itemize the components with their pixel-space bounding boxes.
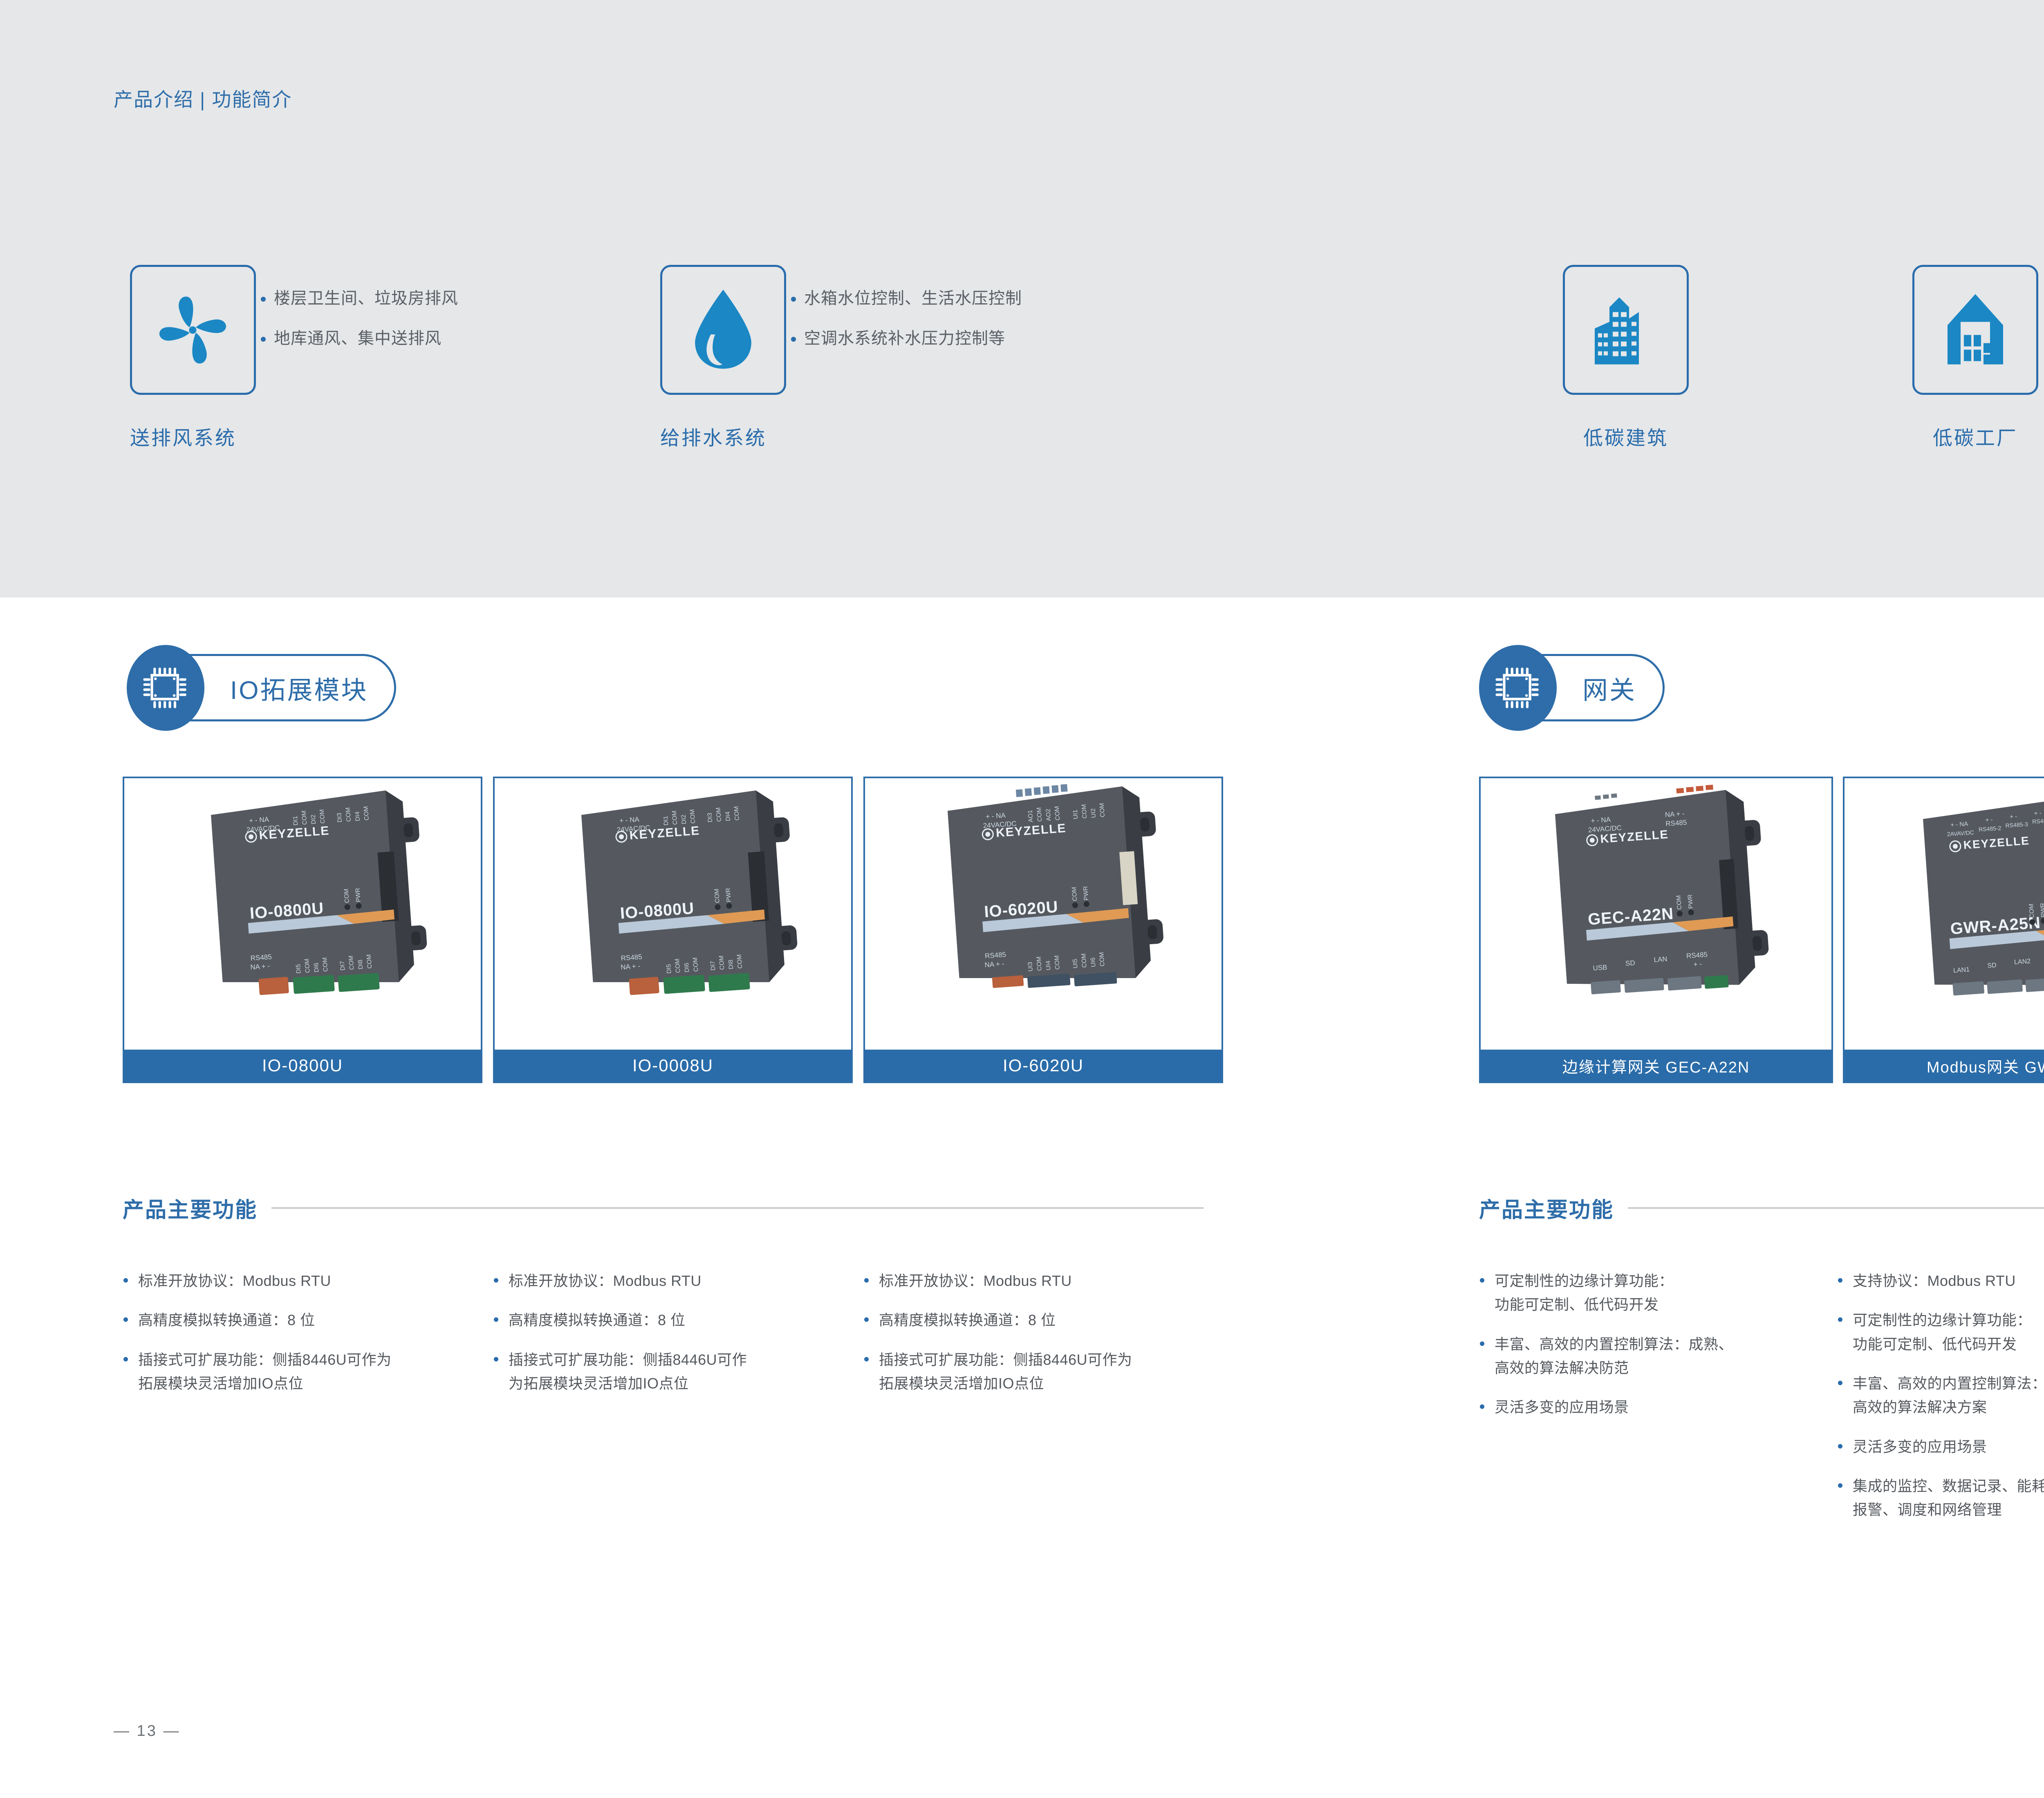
scenario-block-building: 低碳建筑 bbox=[1563, 265, 1689, 450]
svg-text:COM: COM bbox=[1071, 887, 1078, 901]
feature-text: 丰富、高效的内置控制算法：成熟、 高效的算法解决防范 bbox=[1492, 1332, 1827, 1380]
svg-text:COM: COM bbox=[321, 957, 329, 972]
svg-text:NA + -: NA + - bbox=[250, 962, 270, 971]
product-card[interactable]: + - NA 24VAC/DC DI1 COM DI2 COM DI3 COM … bbox=[493, 777, 853, 1083]
features-heading-right: 产品主要功能 bbox=[1479, 1193, 2044, 1223]
svg-text:COM: COM bbox=[303, 958, 311, 973]
section-header-io-modules: IO拓展模块 bbox=[127, 645, 437, 732]
feature-column: 支持协议：Modbus RTU 可定制性的边缘计算功能： 功能可定制、低代码开发… bbox=[1850, 1269, 2044, 1538]
svg-text:DI1: DI1 bbox=[292, 816, 300, 826]
running-head-left: 产品介绍 | 功能简介 bbox=[114, 84, 292, 112]
svg-text:LAN1: LAN1 bbox=[1953, 966, 1970, 974]
svg-text:DI2: DI2 bbox=[680, 815, 688, 824]
bullet-item: 楼层卫生间、垃圾房排风 bbox=[274, 290, 585, 307]
svg-text:COM: COM bbox=[1053, 806, 1061, 821]
feature-text: 高精度模拟转换通道：8 位 bbox=[876, 1308, 1221, 1332]
section-title-gateways: 网关 bbox=[1582, 669, 1636, 706]
feature-item: 可定制性的边缘计算功能： 功能可定制、低代码开发 bbox=[1492, 1269, 1827, 1317]
device-illustration-gwr-a25n: + - NA + - + - + - + - 2AVAV/DC RS485-2 … bbox=[1845, 778, 2044, 1032]
svg-text:LAN2: LAN2 bbox=[2014, 958, 2031, 966]
svg-text:AO1: AO1 bbox=[1026, 810, 1034, 822]
section-title-io-modules: IO拓展模块 bbox=[230, 669, 368, 706]
features-title: 产品主要功能 bbox=[123, 1193, 258, 1223]
feature-item: 插接式可扩展功能：侧插8446U可作为 拓展模块灵活增加IO点位 bbox=[136, 1348, 480, 1396]
feature-text: 插接式可扩展功能：侧插8446U可作 为拓展模块灵活增加IO点位 bbox=[506, 1348, 850, 1396]
svg-text:+ -: + - bbox=[2010, 813, 2017, 820]
svg-text:PWR: PWR bbox=[1082, 886, 1090, 900]
svg-text:DI7: DI7 bbox=[339, 961, 347, 970]
heading-rule bbox=[1628, 1207, 2044, 1209]
chip-icon-circle bbox=[1479, 645, 1557, 731]
device-illustration-gec-a22n: + - NA 24VAC/DC NA + - RS485 KEYZELLE GE… bbox=[1481, 778, 1831, 1032]
section-header-gateways: 网关 bbox=[1479, 645, 1732, 732]
svg-text:+ - NA: + - NA bbox=[1591, 815, 1611, 824]
svg-text:COM: COM bbox=[1035, 956, 1043, 971]
svg-text:UI2: UI2 bbox=[1090, 808, 1098, 818]
svg-text:RS485: RS485 bbox=[984, 951, 1006, 960]
product-label: Modbus网关 GWR-A25N bbox=[1845, 1050, 2044, 1081]
application-bullets-water: 水箱水位控制、生活水压控制 空调水系统补水压力控制等 bbox=[804, 290, 1115, 370]
application-caption-water: 给排水系统 bbox=[660, 422, 786, 450]
feature-item: 高精度模拟转换通道：8 位 bbox=[136, 1308, 480, 1332]
svg-text:DI7: DI7 bbox=[709, 961, 717, 970]
fan-icon bbox=[149, 286, 237, 374]
svg-text:+ -: + - bbox=[1693, 960, 1702, 968]
feature-item: 标准开放协议：Modbus RTU bbox=[876, 1269, 1221, 1293]
svg-text:COM: COM bbox=[692, 957, 699, 972]
bullet-item: 地库通风、集中送排风 bbox=[274, 330, 585, 347]
product-image: + - NA 24VAC/DC DI1 COM DI2 COM DI3 COM … bbox=[124, 778, 481, 1050]
application-block-ventilation: 送排风系统 楼层卫生间、垃圾房排风 地库通风、集中送排风 bbox=[130, 265, 256, 450]
product-label: IO-0008U bbox=[495, 1050, 851, 1081]
feature-text: 标准开放协议：Modbus RTU bbox=[136, 1269, 480, 1293]
application-block-water: 给排水系统 水箱水位控制、生活水压控制 空调水系统补水压力控制等 bbox=[660, 265, 786, 450]
feature-item: 集成的监控、数据记录、能耗计量、 报警、调度和网络管理 bbox=[1850, 1474, 2044, 1522]
svg-text:COM: COM bbox=[1098, 803, 1106, 817]
feature-columns-left: 标准开放协议：Modbus RTU 高精度模拟转换通道：8 位 插接式可扩展功能… bbox=[136, 1269, 1221, 1411]
product-image: + - NA 24VAC/DC DI1 COM DI2 COM DI3 COM … bbox=[495, 778, 851, 1050]
chip-icon-circle bbox=[127, 645, 204, 731]
feature-column: 标准开放协议：Modbus RTU 高精度模拟转换通道：8 位 插接式可扩展功能… bbox=[876, 1269, 1221, 1411]
svg-text:NA + -: NA + - bbox=[621, 962, 641, 971]
product-card-row-gateways: + - NA 24VAC/DC NA + - RS485 KEYZELLE GE… bbox=[1479, 777, 2044, 1083]
svg-text:+ - NA: + - NA bbox=[619, 815, 640, 824]
feature-text: 标准开放协议：Modbus RTU bbox=[506, 1269, 850, 1293]
bullet-item: 水箱水位控制、生活水压控制 bbox=[804, 290, 1115, 307]
svg-text:PWR: PWR bbox=[2039, 902, 2044, 917]
svg-text:+ - NA: + - NA bbox=[986, 811, 1006, 820]
svg-text:UI5: UI5 bbox=[1071, 958, 1079, 968]
scenario-caption-factory: 低碳工厂 bbox=[1912, 422, 2038, 450]
svg-text:SD: SD bbox=[1987, 962, 1997, 970]
feature-text: 灵活多变的应用场景 bbox=[1492, 1395, 1827, 1419]
factory-icon bbox=[1934, 288, 2016, 372]
svg-text:PWR: PWR bbox=[354, 888, 362, 902]
product-label: 边缘计算网关 GEC-A22N bbox=[1481, 1050, 1831, 1081]
feature-text: 集成的监控、数据记录、能耗计量、 报警、调度和网络管理 bbox=[1850, 1474, 2044, 1522]
product-card-row-io: + - NA 24VAC/DC DI1 COM DI2 COM DI3 COM … bbox=[123, 777, 1223, 1083]
device-illustration-io-0008u: + - NA 24VAC/DC DI1 COM DI2 COM DI3 COM … bbox=[495, 778, 851, 1032]
device-illustration-io-0800u: + - NA 24VAC/DC DI1 COM DI2 COM DI3 COM … bbox=[124, 778, 481, 1032]
svg-text:UI6: UI6 bbox=[1089, 957, 1097, 967]
svg-text:+ -: + - bbox=[2034, 810, 2042, 817]
svg-text:UI4: UI4 bbox=[1044, 961, 1052, 970]
svg-text:COM: COM bbox=[713, 889, 721, 903]
svg-text:+ -: + - bbox=[1985, 816, 1993, 824]
factory-icon-frame bbox=[1912, 265, 2038, 395]
svg-text:COM: COM bbox=[1035, 807, 1043, 822]
svg-text:COM: COM bbox=[345, 807, 352, 822]
feature-item: 标准开放协议：Modbus RTU bbox=[506, 1269, 850, 1293]
product-card[interactable]: + - NA 24VAC/DC AO1 COM AO2 COM UI1 COM … bbox=[863, 777, 1223, 1083]
svg-text:PWR: PWR bbox=[1687, 894, 1694, 909]
heading-rule bbox=[271, 1207, 1204, 1209]
svg-text:DI6: DI6 bbox=[313, 963, 320, 972]
svg-text:COM: COM bbox=[718, 955, 726, 970]
product-card[interactable]: + - NA + - + - + - + - 2AVAV/DC RS485-2 … bbox=[1843, 777, 2044, 1083]
svg-text:COM: COM bbox=[2028, 903, 2035, 918]
office-building-icon-frame bbox=[1563, 265, 1689, 395]
svg-text:AO2: AO2 bbox=[1044, 808, 1052, 821]
device-illustration-io-6020u: + - NA 24VAC/DC AO1 COM AO2 COM UI1 COM … bbox=[865, 778, 1221, 1032]
svg-text:DI8: DI8 bbox=[357, 959, 365, 969]
svg-text:COM: COM bbox=[1080, 953, 1088, 968]
feature-item: 支持协议：Modbus RTU bbox=[1850, 1269, 2044, 1293]
feature-item: 插接式可扩展功能：侧插8446U可作 为拓展模块灵活增加IO点位 bbox=[506, 1348, 850, 1396]
feature-column: 可定制性的边缘计算功能： 功能可定制、低代码开发 丰富、高效的内置控制算法：成熟… bbox=[1492, 1269, 1827, 1538]
svg-text:USB: USB bbox=[1593, 963, 1607, 972]
svg-text:RS485-4: RS485-4 bbox=[2032, 817, 2044, 825]
svg-text:COM: COM bbox=[671, 810, 679, 825]
svg-text:COM: COM bbox=[1675, 895, 1683, 910]
feature-item: 高精度模拟转换通道：8 位 bbox=[506, 1308, 850, 1332]
water-drop-icon bbox=[682, 286, 764, 374]
svg-text:COM: COM bbox=[736, 954, 744, 969]
features-title: 产品主要功能 bbox=[1479, 1193, 1614, 1223]
feature-column: 标准开放协议：Modbus RTU 高精度模拟转换通道：8 位 插接式可扩展功能… bbox=[506, 1269, 850, 1411]
feature-item: 高精度模拟转换通道：8 位 bbox=[876, 1308, 1221, 1332]
svg-text:COM: COM bbox=[343, 889, 351, 903]
svg-text:DI1: DI1 bbox=[662, 816, 670, 826]
feature-text: 丰富、高效的内置控制算法：成熟、 高效的算法解决方案 bbox=[1850, 1372, 2044, 1420]
feature-text: 灵活多变的应用场景 bbox=[1850, 1435, 2044, 1459]
feature-item: 丰富、高效的内置控制算法：成熟、 高效的算法解决方案 bbox=[1850, 1372, 2044, 1420]
svg-text:RS485: RS485 bbox=[1686, 951, 1708, 960]
feature-column: 标准开放协议：Modbus RTU 高精度模拟转换通道：8 位 插接式可扩展功能… bbox=[136, 1269, 480, 1411]
feature-text: 插接式可扩展功能：侧插8446U可作为 拓展模块灵活增加IO点位 bbox=[876, 1348, 1221, 1396]
feature-text: 可定制性的边缘计算功能： 功能可定制、低代码开发 bbox=[1850, 1308, 2044, 1356]
chip-icon bbox=[1493, 663, 1543, 713]
feature-item: 标准开放协议：Modbus RTU bbox=[136, 1269, 480, 1293]
brochure-spread: 产品介绍 | 功能简介 产品介绍 | 功能简介 送排风系统 楼层卫生间、垃圾房排… bbox=[0, 0, 2044, 1798]
svg-text:DI4: DI4 bbox=[354, 811, 361, 821]
features-heading-left: 产品主要功能 bbox=[123, 1193, 1218, 1223]
svg-text:LAN: LAN bbox=[1654, 955, 1667, 964]
svg-text:DI2: DI2 bbox=[310, 815, 318, 824]
svg-text:COM: COM bbox=[689, 809, 697, 824]
svg-text:RS485: RS485 bbox=[1665, 819, 1687, 828]
product-image: + - NA 24VAC/DC AO1 COM AO2 COM UI1 COM … bbox=[865, 778, 1221, 1050]
product-image: + - NA + - + - + - + - 2AVAV/DC RS485-2 … bbox=[1845, 778, 2044, 1050]
svg-text:UI1: UI1 bbox=[1072, 809, 1080, 819]
svg-text:NA + -: NA + - bbox=[1665, 810, 1685, 819]
svg-text:DI4: DI4 bbox=[724, 811, 732, 821]
feature-text: 支持协议：Modbus RTU bbox=[1850, 1269, 2044, 1293]
svg-text:DI6: DI6 bbox=[683, 963, 691, 972]
svg-text:COM: COM bbox=[318, 809, 326, 824]
office-building-icon bbox=[1585, 288, 1667, 372]
svg-text:COM: COM bbox=[300, 810, 308, 825]
svg-text:COM: COM bbox=[363, 806, 370, 821]
svg-text:COM: COM bbox=[674, 958, 681, 973]
feature-text: 高精度模拟转换通道：8 位 bbox=[506, 1308, 850, 1332]
application-caption-ventilation: 送排风系统 bbox=[130, 422, 256, 450]
feature-text: 高精度模拟转换通道：8 位 bbox=[136, 1308, 480, 1332]
svg-text:NA + -: NA + - bbox=[984, 960, 1004, 969]
fan-icon-frame bbox=[130, 265, 256, 395]
svg-text:DI8: DI8 bbox=[727, 959, 735, 969]
scenario-caption-building: 低碳建筑 bbox=[1563, 422, 1689, 450]
svg-text:COM: COM bbox=[733, 806, 741, 821]
feature-columns-right: 可定制性的边缘计算功能： 功能可定制、低代码开发 丰富、高效的内置控制算法：成熟… bbox=[1492, 1269, 2044, 1538]
water-drop-icon-frame bbox=[660, 265, 786, 395]
feature-item: 灵活多变的应用场景 bbox=[1492, 1395, 1827, 1419]
svg-text:DI5: DI5 bbox=[295, 964, 303, 974]
svg-text:COM: COM bbox=[365, 954, 373, 969]
svg-text:COM: COM bbox=[1080, 804, 1088, 819]
svg-text:COM: COM bbox=[1098, 952, 1106, 967]
svg-text:DI5: DI5 bbox=[665, 964, 673, 974]
svg-text:COM: COM bbox=[1053, 955, 1061, 970]
product-card[interactable]: + - NA 24VAC/DC DI1 COM DI2 COM DI3 COM … bbox=[123, 777, 482, 1083]
bullet-item: 空调水系统补水压力控制等 bbox=[804, 330, 1115, 347]
feature-item: 丰富、高效的内置控制算法：成熟、 高效的算法解决防范 bbox=[1492, 1332, 1827, 1380]
svg-text:DI3: DI3 bbox=[706, 813, 714, 822]
product-label: IO-0800U bbox=[124, 1050, 481, 1081]
svg-text:RS485: RS485 bbox=[621, 953, 642, 962]
feature-item: 灵活多变的应用场景 bbox=[1850, 1435, 2044, 1459]
svg-text:UI3: UI3 bbox=[1026, 962, 1034, 972]
svg-text:+ - NA: + - NA bbox=[249, 815, 270, 824]
feature-item: 可定制性的边缘计算功能： 功能可定制、低代码开发 bbox=[1850, 1308, 2044, 1356]
feature-item: 插接式可扩展功能：侧插8446U可作为 拓展模块灵活增加IO点位 bbox=[876, 1348, 1221, 1396]
svg-text:SD: SD bbox=[1625, 959, 1635, 967]
page-number-left: — 13 — bbox=[114, 1722, 180, 1740]
application-bullets-ventilation: 楼层卫生间、垃圾房排风 地库通风、集中送排风 bbox=[274, 290, 585, 370]
svg-text:+ - NA: + - NA bbox=[1950, 820, 1968, 828]
feature-text: 标准开放协议：Modbus RTU bbox=[876, 1269, 1221, 1293]
feature-text: 插接式可扩展功能：侧插8446U可作为 拓展模块灵活增加IO点位 bbox=[136, 1348, 480, 1396]
svg-text:RS485: RS485 bbox=[250, 953, 272, 962]
product-label: IO-6020U bbox=[865, 1050, 1221, 1081]
product-card[interactable]: + - NA 24VAC/DC NA + - RS485 KEYZELLE GE… bbox=[1479, 777, 1833, 1083]
section-pill-io-modules: IO拓展模块 bbox=[175, 654, 396, 721]
svg-text:COM: COM bbox=[715, 807, 723, 822]
chip-icon bbox=[140, 663, 191, 713]
scenario-block-factory: 低碳工厂 bbox=[1912, 265, 2038, 450]
svg-text:COM: COM bbox=[347, 955, 355, 970]
svg-text:DI3: DI3 bbox=[336, 813, 344, 822]
product-image: + - NA 24VAC/DC NA + - RS485 KEYZELLE GE… bbox=[1481, 778, 1831, 1050]
svg-text:PWR: PWR bbox=[724, 888, 732, 902]
feature-text: 可定制性的边缘计算功能： 功能可定制、低代码开发 bbox=[1492, 1269, 1827, 1317]
